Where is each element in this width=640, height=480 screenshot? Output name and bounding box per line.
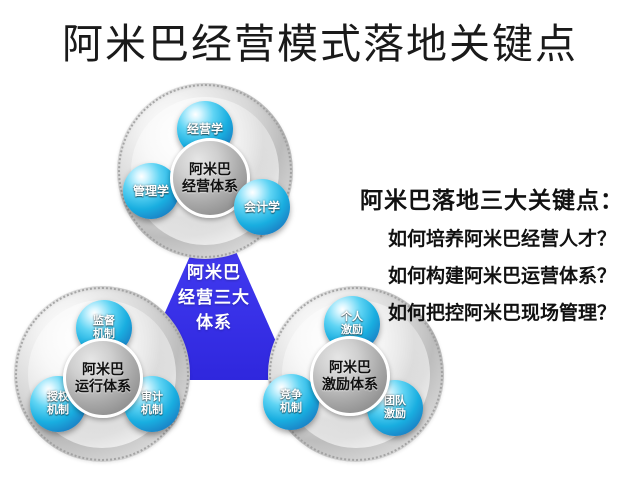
node-label-line1: 会计学 bbox=[234, 200, 290, 214]
core-label-line1: 阿米巴 bbox=[66, 361, 140, 378]
core-label-line1: 阿米巴 bbox=[313, 359, 387, 376]
page-title: 阿米巴经营模式落地关键点 bbox=[0, 18, 640, 70]
node-label: 竞争 机制 bbox=[263, 389, 319, 415]
node-label-line1: 监督 bbox=[76, 315, 132, 328]
key-point-item-1: 如何构建阿米巴运营体系？ bbox=[388, 265, 640, 289]
node-label-line2: 激励 bbox=[367, 408, 423, 421]
node-label: 经营学 bbox=[177, 122, 233, 136]
core-label-line2: 运行体系 bbox=[66, 378, 140, 395]
slide-canvas: 阿米巴经营模式落地关键点 阿米巴 经营三大 体系 经营学 bbox=[0, 0, 640, 480]
node-label-line1: 竞争 bbox=[263, 389, 319, 402]
key-point-item-2: 如何把控阿米巴现场管理？ bbox=[388, 302, 640, 326]
core-label-line1: 阿米巴 bbox=[173, 161, 247, 178]
node-label-line2: 激励 bbox=[324, 324, 380, 337]
cluster-operation-system[interactable]: 监督 机制 授权 机制 审计 机制 阿米巴 运行体系 bbox=[14, 286, 190, 462]
node-label-line1: 经营学 bbox=[177, 122, 233, 136]
core-incentive-system[interactable]: 阿米巴 激励体系 bbox=[310, 336, 390, 416]
node-label-line1: 个人 bbox=[324, 311, 380, 324]
node-label: 个人 激励 bbox=[324, 311, 380, 337]
core-label-line2: 经营体系 bbox=[173, 178, 247, 195]
core-label: 阿米巴 经营体系 bbox=[173, 161, 247, 195]
node-management-2[interactable]: 会计学 bbox=[234, 179, 290, 235]
node-label-line2: 机制 bbox=[263, 402, 319, 415]
key-point-item-0: 如何培养阿米巴经营人才？ bbox=[388, 228, 640, 252]
core-label-line2: 激励体系 bbox=[313, 376, 387, 393]
core-label: 阿米巴 激励体系 bbox=[313, 359, 387, 393]
cluster-management-system[interactable]: 经营学 管理学 会计学 阿米巴 经营体系 bbox=[117, 83, 293, 259]
core-label: 阿米巴 运行体系 bbox=[66, 361, 140, 395]
key-points-block: 阿米巴落地三大关键点： 如何培养阿米巴经营人才？ 如何构建阿米巴运营体系？ 如何… bbox=[360, 186, 640, 326]
node-label-line2: 机制 bbox=[124, 404, 180, 417]
key-points-heading: 阿米巴落地三大关键点： bbox=[360, 186, 640, 214]
core-operation-system[interactable]: 阿米巴 运行体系 bbox=[63, 338, 143, 418]
node-label: 会计学 bbox=[234, 200, 290, 214]
